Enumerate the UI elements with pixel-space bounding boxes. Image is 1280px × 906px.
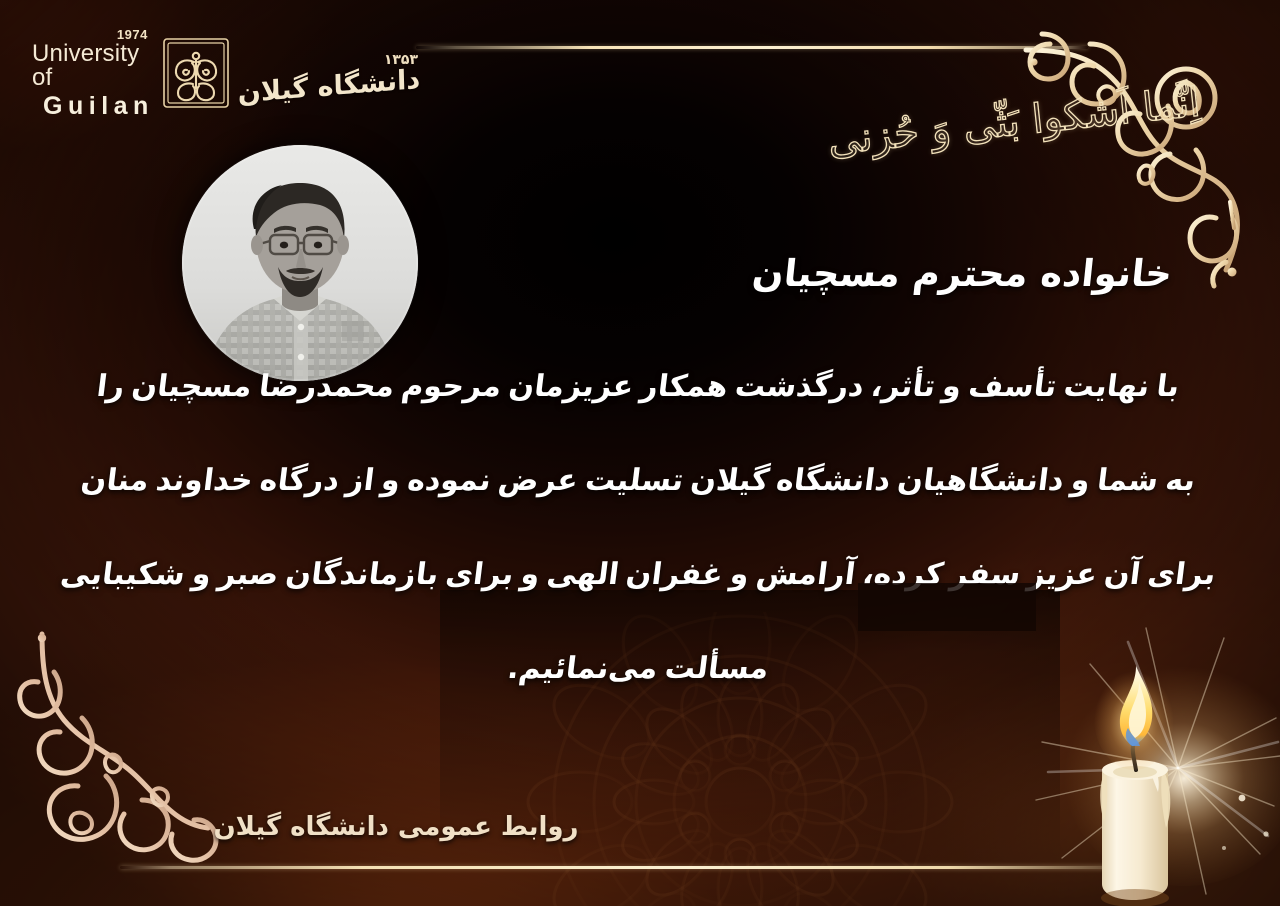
gold-divider-rule-bottom: [120, 866, 1130, 869]
logo-year-gregorian: 1974: [117, 28, 154, 41]
message-line-1: با نهایت تأسف و تأثر، درگذشت همکار عزیزم…: [46, 372, 1230, 402]
deceased-portrait-photo: [182, 145, 418, 381]
message-heading: خانواده محترم مسچیان: [530, 252, 1175, 295]
message-line-4: مسألت می‌نمائیم.: [46, 654, 1230, 684]
message-line-2: به شما و دانشگاهیان دانشگاه گیلان تسلیت …: [46, 466, 1230, 496]
guilan-university-emblem-icon: [161, 36, 231, 110]
quranic-calligraphy-icon: اِنَّما اَشکوا بَثّی وَ حُزنی: [892, 46, 1136, 198]
message-body: با نهایت تأسف و تأثر، درگذشت همکار عزیزم…: [48, 372, 1228, 684]
logo-name-line2: Guilan: [43, 94, 154, 119]
university-logo-english: 1974 University of Guilan: [28, 28, 154, 119]
gold-divider-rule-top: [416, 46, 1088, 49]
footer-signature: روابط عمومی دانشگاه گیلان: [206, 812, 586, 842]
logo-name-line1: University of: [32, 42, 154, 90]
logo-name-persian: دانشگاه گیلان: [237, 64, 420, 109]
university-logo-persian: ۱۳۵۳ دانشگاه گیلان: [238, 36, 420, 110]
message-line-3: برای آن عزیز سفر کرده، آرامش و غفران اله…: [46, 560, 1230, 590]
condolence-poster: 1974 University of Guilan: [0, 0, 1280, 906]
university-logo: 1974 University of Guilan: [28, 30, 420, 116]
